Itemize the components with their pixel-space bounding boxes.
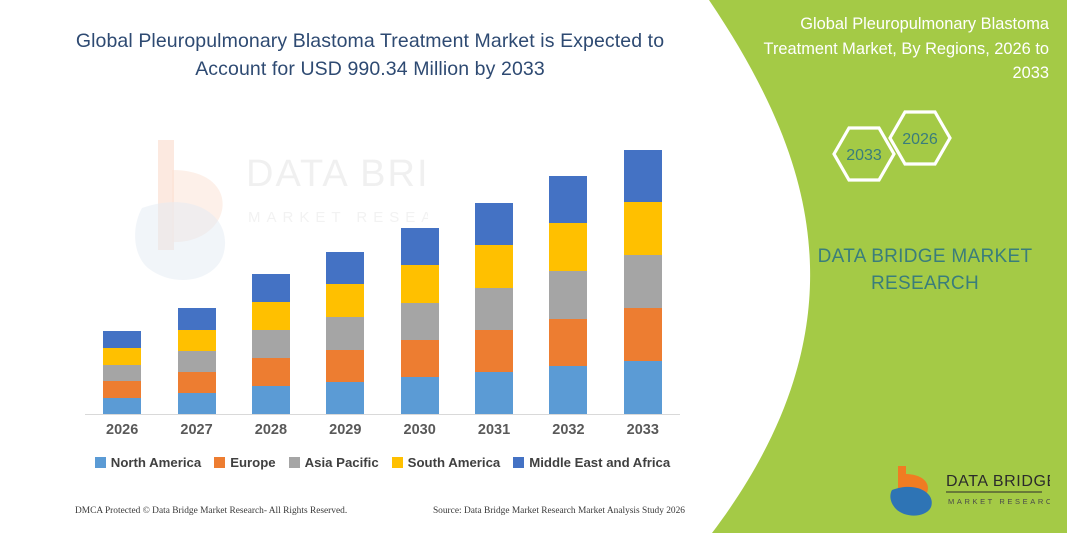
bar-segment [549,271,587,319]
bar-segment [549,176,587,223]
stacked-bar [624,150,662,414]
x-axis-label-2028: 2028 [234,422,308,438]
footer-copyright: DMCA Protected © Data Bridge Market Rese… [75,506,347,516]
stacked-bar [103,331,141,414]
bar-column-2028 [234,120,308,414]
svg-text:MARKET RESEARCH: MARKET RESEARCH [948,497,1050,506]
legend-swatch-icon [392,457,403,468]
data-bridge-logo: DATA BRIDGE MARKET RESEARCH [890,462,1050,518]
bar-segment [549,223,587,271]
bar-segment [475,245,513,288]
svg-text:2026: 2026 [902,131,938,148]
legend-item[interactable]: Middle East and Africa [513,455,670,470]
bar-segment [326,284,364,317]
bar-segment [624,308,662,361]
stacked-bar [252,274,290,414]
year-range-hexagons: 2033 2026 [818,102,988,207]
legend-label: Middle East and Africa [529,455,670,470]
bar-column-2032 [531,120,605,414]
bar-segment [252,302,290,330]
footer-source: Source: Data Bridge Market Research Mark… [433,506,685,516]
legend-label: South America [408,455,501,470]
bar-segment [103,381,141,398]
bar-segment [103,348,141,365]
bar-segment [549,366,587,414]
stacked-bar [401,228,439,414]
x-axis-label-2029: 2029 [308,422,382,438]
bar-column-2031 [457,120,531,414]
svg-text:2033: 2033 [846,147,882,164]
bar-segment [624,361,662,414]
bar-segment [326,382,364,414]
bar-segment [624,202,662,255]
legend-item[interactable]: South America [392,455,501,470]
bar-segment [252,386,290,414]
bar-segment [475,330,513,372]
bar-column-2030 [383,120,457,414]
bar-segment [475,288,513,330]
panel-title: Global Pleuropulmonary Blastoma Treatmen… [759,12,1049,86]
legend-swatch-icon [513,457,524,468]
brand-line-1: DATA BRIDGE MARKET [800,244,1050,271]
bar-segment [252,274,290,302]
bar-segment [178,351,216,372]
legend-label: North America [111,455,201,470]
legend-item[interactable]: Europe [214,455,275,470]
x-axis-label-2032: 2032 [531,422,605,438]
legend-label: Asia Pacific [305,455,379,470]
legend-item[interactable]: North America [95,455,201,470]
bar-segment [103,331,141,348]
legend-label: Europe [230,455,275,470]
bar-segment [401,228,439,265]
legend-item[interactable]: Asia Pacific [289,455,379,470]
x-axis-label-2026: 2026 [85,422,159,438]
bar-segment [401,340,439,377]
x-axis-baseline [85,414,680,415]
bar-segment [624,150,662,202]
bar-segment [475,372,513,414]
bar-segment [178,308,216,330]
x-axis-labels: 20262027202820292030203120322033 [85,422,680,438]
bar-column-2027 [160,120,234,414]
page-title: Global Pleuropulmonary Blastoma Treatmen… [60,28,680,83]
x-axis-label-2027: 2027 [160,422,234,438]
brand-wordmark: DATA BRIDGE MARKET RESEARCH [800,244,1050,298]
bar-segment [178,372,216,393]
bar-segment [178,330,216,351]
bar-segment [475,203,513,245]
stacked-bar [326,252,364,414]
footer: DMCA Protected © Data Bridge Market Rese… [75,506,685,516]
chart-legend: North AmericaEuropeAsia PacificSouth Ame… [85,455,680,470]
bar-segment [103,398,141,414]
bar-segment [103,365,141,381]
stacked-bar [178,308,216,414]
bar-segment [624,255,662,308]
bar-segment [401,265,439,303]
legend-swatch-icon [95,457,106,468]
stacked-bar [475,203,513,414]
x-axis-label-2031: 2031 [457,422,531,438]
bar-segment [549,319,587,366]
bar-segment [326,350,364,382]
bar-segment [326,252,364,284]
bar-segment [252,358,290,386]
brand-line-2: RESEARCH [800,271,1050,298]
legend-swatch-icon [289,457,300,468]
svg-text:DATA BRIDGE: DATA BRIDGE [946,473,1050,490]
bar-segment [326,317,364,350]
stacked-bar [549,176,587,414]
x-axis-label-2030: 2030 [383,422,457,438]
bar-segment [252,330,290,358]
bar-column-2033 [606,120,680,414]
bar-column-2026 [85,120,159,414]
bar-segment [401,377,439,414]
bar-segment [178,393,216,414]
bar-column-2029 [308,120,382,414]
bar-segment [401,303,439,340]
legend-swatch-icon [214,457,225,468]
x-axis-label-2033: 2033 [606,422,680,438]
stacked-bar-chart [85,120,680,414]
